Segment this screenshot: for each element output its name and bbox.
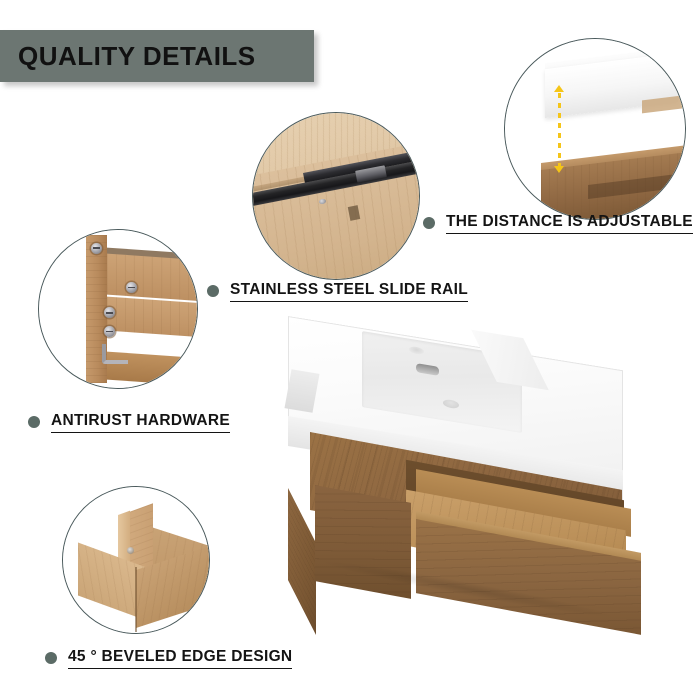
miter-joint-seam xyxy=(135,567,137,631)
bullet-dot-icon xyxy=(423,217,435,229)
label-text-antirust-hardware: ANTIRUST HARDWARE xyxy=(51,412,230,433)
callout-circle-slide-rail xyxy=(252,112,420,280)
callout-circle-antirust-hardware xyxy=(38,229,198,389)
product-cabinet xyxy=(288,432,658,682)
label-distance-adjustable: THE DISTANCE IS ADJUSTABLE xyxy=(423,213,693,234)
label-antirust-hardware: ANTIRUST HARDWARE xyxy=(28,412,230,433)
label-text-beveled-edge: 45 ° BEVELED EDGE DESIGN xyxy=(68,648,292,669)
arrow-down-icon xyxy=(554,166,564,173)
distance-dashed-line xyxy=(558,93,561,169)
arrow-up-icon xyxy=(554,85,564,92)
bevel-illustration xyxy=(63,487,209,633)
bullet-dot-icon xyxy=(45,652,57,664)
label-beveled-edge: 45 ° BEVELED EDGE DESIGN xyxy=(45,648,292,669)
screw-icon xyxy=(126,282,137,293)
bullet-dot-icon xyxy=(207,285,219,297)
page-title: QUALITY DETAILS xyxy=(0,41,256,72)
slide-rail-illustration xyxy=(253,113,419,279)
wood-panel-upper xyxy=(107,253,197,301)
infographic-page: QUALITY DETAILS STAINLESS STEEL SLIDE RA… xyxy=(0,0,700,700)
label-slide-rail: STAINLESS STEEL SLIDE RAIL xyxy=(207,281,468,302)
antirust-illustration xyxy=(39,230,197,388)
callout-circle-distance-adjustable xyxy=(504,38,686,220)
bullet-dot-icon xyxy=(28,416,40,428)
metal-bracket-icon xyxy=(102,344,128,364)
label-text-slide-rail: STAINLESS STEEL SLIDE RAIL xyxy=(230,281,468,302)
header-banner: QUALITY DETAILS xyxy=(0,30,314,82)
screw-icon xyxy=(91,243,102,254)
label-text-distance-adjustable: THE DISTANCE IS ADJUSTABLE xyxy=(446,213,693,234)
callout-circle-beveled-edge xyxy=(62,486,210,634)
distance-illustration xyxy=(505,39,685,219)
